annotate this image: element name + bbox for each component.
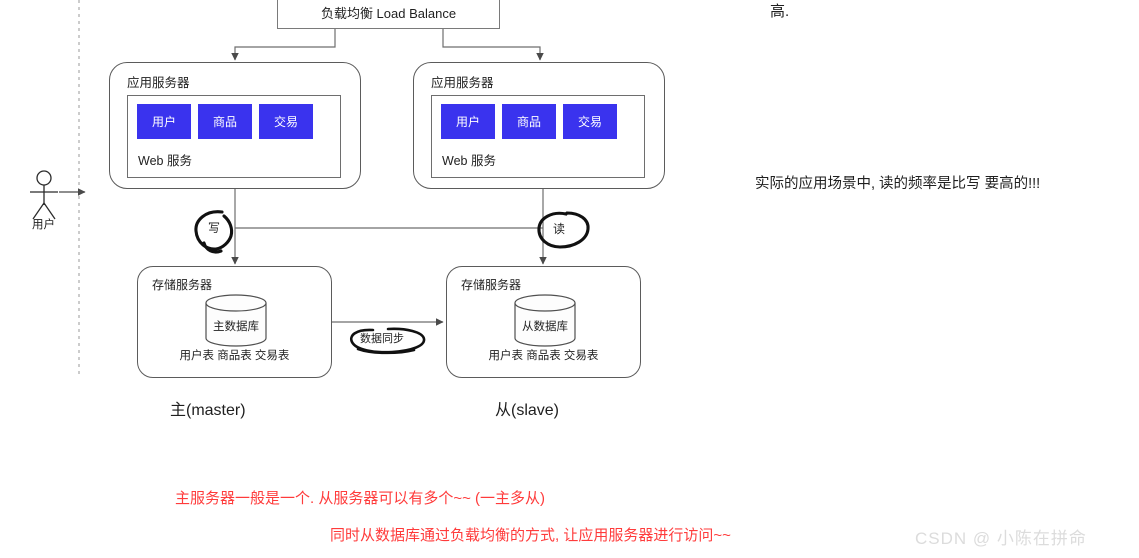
storage-server-master-title: 存储服务器 bbox=[152, 276, 212, 293]
service-box-user-left: 用户 bbox=[137, 104, 191, 139]
storage-server-slave: 存储服务器 从数据库 用户表 商品表 交易表 bbox=[446, 266, 641, 378]
storage-server-slave-title: 存储服务器 bbox=[461, 276, 521, 293]
data-sync-label: 数据同步 bbox=[360, 330, 404, 346]
right-note-middle: 实际的应用场景中, 读的频率是比写 要高的!!! bbox=[755, 172, 1040, 193]
service-row-left: 用户 商品 交易 bbox=[137, 104, 313, 139]
red-annotation-line-1: 主服务器一般是一个. 从服务器可以有多个~~ (一主多从) bbox=[175, 487, 545, 508]
app-server-right: 应用服务器 用户 商品 交易 Web 服务 bbox=[413, 62, 665, 189]
service-box-trade-left: 交易 bbox=[259, 104, 313, 139]
database-label-slave: 从数据库 bbox=[514, 318, 576, 334]
write-flow-label: 写 bbox=[208, 219, 220, 236]
app-server-left: 应用服务器 用户 商品 交易 Web 服务 bbox=[109, 62, 361, 189]
web-service-box-left: 用户 商品 交易 Web 服务 bbox=[127, 95, 341, 178]
web-service-box-right: 用户 商品 交易 Web 服务 bbox=[431, 95, 645, 178]
tables-label-slave: 用户表 商品表 交易表 bbox=[447, 347, 640, 363]
service-row-right: 用户 商品 交易 bbox=[441, 104, 617, 139]
red-annotation-line-2: 同时从数据库通过负载均衡的方式, 让应用服务器进行访问~~ bbox=[330, 524, 731, 545]
database-label-master: 主数据库 bbox=[205, 318, 267, 334]
master-role-label: 主(master) bbox=[170, 396, 246, 420]
lb-to-app-left-connector bbox=[235, 29, 335, 60]
load-balance-label: 负载均衡 Load Balance bbox=[321, 3, 456, 22]
read-flow-label: 读 bbox=[553, 220, 565, 237]
web-service-label-right: Web 服务 bbox=[442, 150, 496, 169]
stick-figure-icon bbox=[30, 171, 58, 219]
app-server-right-title: 应用服务器 bbox=[431, 72, 494, 91]
app-server-left-title: 应用服务器 bbox=[127, 72, 190, 91]
actor-label: 用户 bbox=[32, 216, 55, 232]
service-box-user-right: 用户 bbox=[441, 104, 495, 139]
slave-role-label: 从(slave) bbox=[495, 396, 559, 420]
tables-label-master: 用户表 商品表 交易表 bbox=[138, 347, 331, 363]
load-balance-box: 负载均衡 Load Balance bbox=[277, 0, 500, 29]
database-cylinder-master: 主数据库 bbox=[205, 294, 267, 347]
service-box-trade-right: 交易 bbox=[563, 104, 617, 139]
service-box-product-left: 商品 bbox=[198, 104, 252, 139]
diagram-canvas: 负载均衡 Load Balance 应用服务器 用户 商品 交易 Web 服务 … bbox=[0, 0, 1139, 558]
lb-to-app-right-connector bbox=[443, 29, 540, 60]
watermark: CSDN @ 小陈在拼命 bbox=[915, 524, 1087, 549]
web-service-label-left: Web 服务 bbox=[138, 150, 192, 169]
service-box-product-right: 商品 bbox=[502, 104, 556, 139]
storage-server-master: 存储服务器 主数据库 用户表 商品表 交易表 bbox=[137, 266, 332, 378]
right-note-top: 高. bbox=[770, 0, 789, 21]
database-cylinder-slave: 从数据库 bbox=[514, 294, 576, 347]
